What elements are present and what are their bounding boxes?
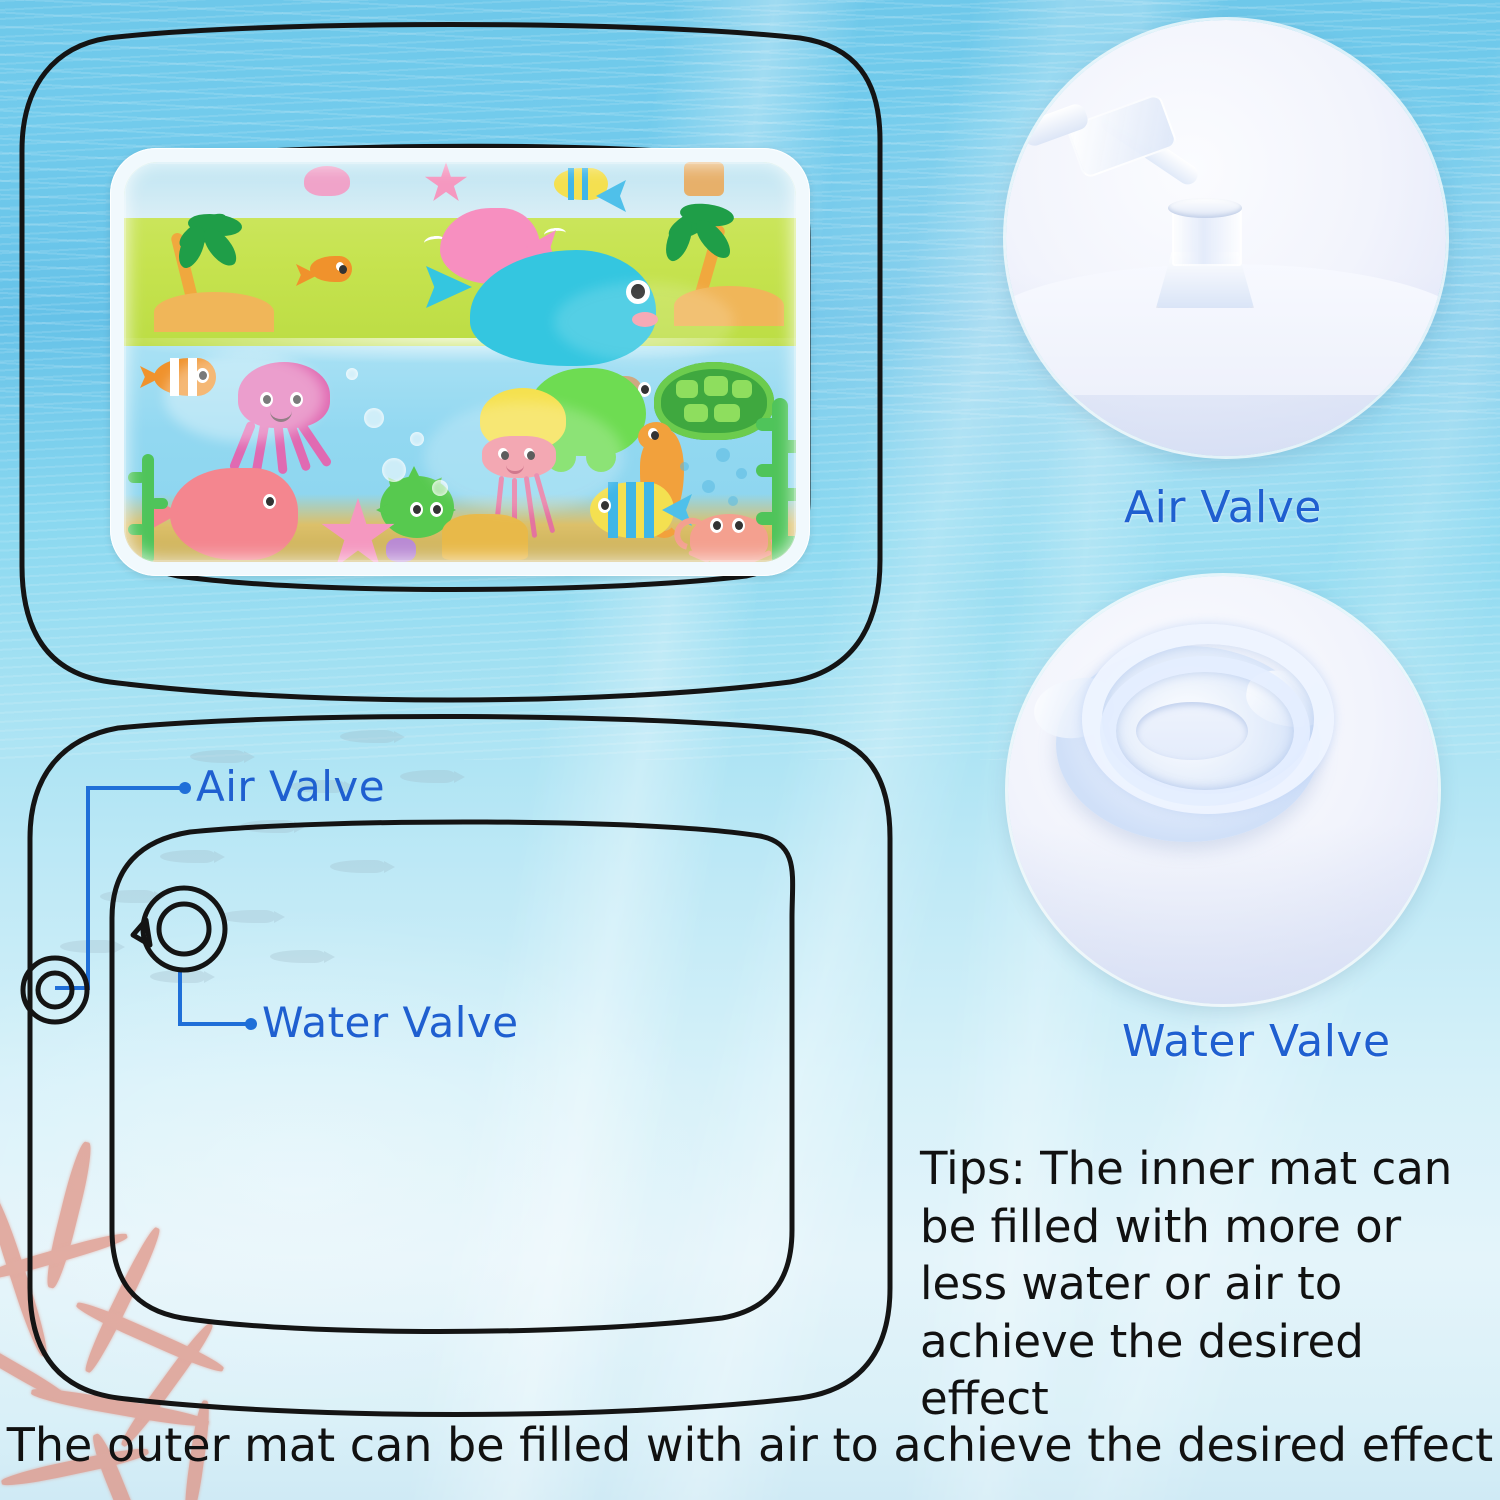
scene-bubble [364, 408, 384, 428]
scene-small-shell [304, 166, 350, 196]
scene-top-stripefish [554, 168, 608, 200]
water-valve-inset [1008, 576, 1438, 1004]
scene-orange-fish [310, 256, 352, 282]
air-valve-inset [1006, 20, 1446, 456]
tips-text: Tips: The inner mat can be filled with m… [920, 1140, 1500, 1428]
scene-red-fish [170, 468, 298, 560]
scene-bubble [702, 480, 715, 493]
inflatable-water-mat-photo [110, 148, 810, 576]
water-valve-callout-label: Water Valve [262, 998, 519, 1047]
scene-bubble [736, 468, 747, 479]
scene-seaweed-left [132, 454, 166, 562]
scene-gloss [424, 402, 624, 512]
scene-gloss [164, 352, 324, 442]
bottom-caption-text: The outer mat can be filled with air to … [0, 1418, 1500, 1472]
air-valve-inset-label: Air Valve [1124, 482, 1322, 533]
air-valve-rim [1168, 198, 1242, 218]
infographic-canvas: Air Valve Water Valve Air Valve Water Va… [0, 0, 1500, 1500]
scene-seaweed [760, 398, 796, 562]
scene-bubble [382, 458, 406, 482]
water-valve-opening [1136, 702, 1248, 760]
scene-bubble [728, 496, 738, 506]
scene-palm-tree-left [154, 196, 274, 316]
scene-bubble [410, 432, 424, 446]
scene-treasure [442, 514, 528, 560]
mat-printed-scene [124, 162, 796, 562]
scene-bubble [716, 448, 730, 462]
scene-shell [386, 538, 416, 562]
inset-shadow [1008, 824, 1438, 1004]
air-valve-callout-label: Air Valve [196, 762, 385, 811]
scene-bubble [346, 368, 358, 380]
water-valve-inset-label: Water Valve [1122, 1016, 1391, 1067]
scene-gloss [554, 282, 734, 362]
scene-bubble [680, 462, 689, 471]
